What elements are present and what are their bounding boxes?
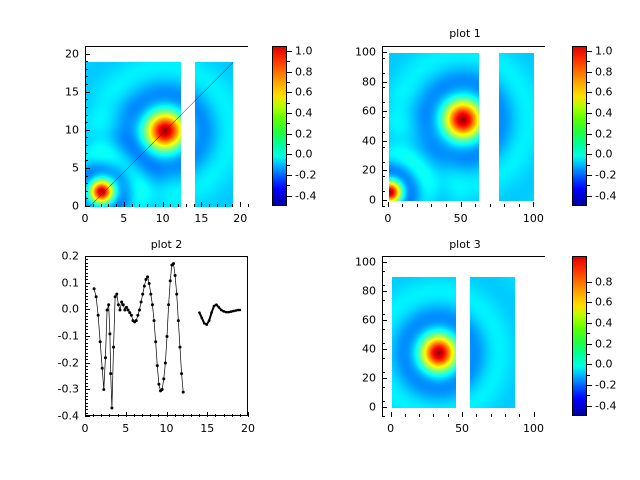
x-tick-minor bbox=[446, 204, 447, 207]
y-tick-label: 0 bbox=[326, 401, 376, 414]
y-tick-minor bbox=[85, 153, 88, 154]
data-point-marker bbox=[110, 407, 113, 410]
colorbar-tick-minor bbox=[587, 82, 590, 83]
data-point-marker bbox=[166, 335, 169, 338]
y-tick-minor bbox=[382, 416, 385, 417]
y-tick-minor bbox=[382, 372, 385, 373]
x-tick-minor bbox=[126, 414, 127, 417]
y-tick-minor bbox=[85, 399, 88, 400]
x-tick-minor bbox=[207, 414, 208, 417]
x-tick-minor bbox=[519, 204, 520, 207]
x-tick-minor bbox=[491, 414, 492, 417]
y-tick-major bbox=[382, 141, 387, 142]
colorbar-tick-minor bbox=[587, 292, 590, 293]
y-tick-label: 80 bbox=[326, 284, 376, 297]
data-point-marker bbox=[99, 340, 102, 343]
data-point-marker bbox=[120, 301, 123, 304]
x-tick-minor bbox=[132, 204, 133, 207]
y-tick-minor bbox=[85, 259, 88, 260]
x-tick-minor bbox=[93, 414, 94, 417]
colorbar-tick bbox=[287, 92, 292, 93]
y-tick-minor bbox=[85, 336, 88, 337]
colorbar-tick-label: -0.4 bbox=[595, 189, 616, 202]
data-point-marker bbox=[146, 275, 149, 278]
y-tick-label: 60 bbox=[326, 105, 376, 118]
colorbar-tick-label: 0.8 bbox=[295, 65, 313, 78]
x-tick-minor bbox=[232, 204, 233, 207]
y-tick-minor bbox=[382, 73, 385, 74]
y-tick-label: 80 bbox=[326, 75, 376, 88]
y-tick-minor bbox=[85, 263, 88, 264]
y-tick-minor bbox=[85, 386, 88, 387]
y-tick-major bbox=[382, 320, 387, 321]
y-tick-minor bbox=[85, 69, 88, 70]
data-point-marker bbox=[232, 310, 235, 313]
x-tick-minor bbox=[505, 414, 506, 417]
y-tick-label: 100 bbox=[326, 255, 376, 268]
y-tick-label: -0.2 bbox=[29, 356, 79, 369]
data-point-marker bbox=[218, 306, 221, 309]
y-tick-minor bbox=[85, 366, 88, 367]
y-tick-minor bbox=[85, 373, 88, 374]
colorbar-tick-minor bbox=[287, 103, 290, 104]
heatmap-image-plot-1 bbox=[383, 47, 546, 207]
data-point-marker bbox=[130, 314, 133, 317]
data-point-marker bbox=[178, 346, 181, 349]
x-tick-minor bbox=[109, 414, 110, 417]
y-tick-minor bbox=[85, 293, 88, 294]
y-tick-major bbox=[382, 291, 387, 292]
data-point-marker bbox=[140, 301, 143, 304]
y-tick-major bbox=[382, 378, 387, 379]
y-tick-minor bbox=[382, 191, 385, 192]
data-point-marker bbox=[107, 303, 110, 306]
x-tick-minor bbox=[101, 414, 102, 417]
data-point-marker bbox=[177, 319, 180, 322]
y-tick-minor bbox=[382, 58, 385, 59]
y-tick-minor bbox=[85, 383, 88, 384]
x-tick-minor bbox=[240, 414, 241, 417]
x-tick-label: 50 bbox=[455, 422, 469, 435]
data-point-marker bbox=[174, 274, 177, 277]
colorbar-tick bbox=[287, 134, 292, 135]
y-tick-minor bbox=[382, 147, 385, 148]
y-tick-minor bbox=[85, 343, 88, 344]
colorbar-top-left bbox=[272, 46, 287, 206]
colorbar-tick-minor bbox=[587, 354, 590, 355]
data-point-marker bbox=[112, 346, 115, 349]
data-point-marker bbox=[125, 306, 128, 309]
panel-title-plot-2: plot 2 bbox=[85, 238, 248, 251]
data-point-marker bbox=[114, 295, 117, 298]
y-tick-minor bbox=[382, 102, 385, 103]
y-tick-minor bbox=[382, 271, 385, 272]
data-point-marker bbox=[123, 309, 126, 312]
data-point-marker bbox=[97, 314, 100, 317]
y-tick-major bbox=[382, 262, 387, 263]
x-tick-minor bbox=[402, 204, 403, 207]
y-tick-label: 40 bbox=[326, 134, 376, 147]
x-tick-label: 0 bbox=[82, 212, 89, 225]
colorbar-tick-label: 0.0 bbox=[595, 148, 613, 161]
y-tick-minor bbox=[85, 54, 88, 55]
panel-title-plot-3: plot 3 bbox=[380, 238, 550, 251]
data-point-marker bbox=[117, 303, 120, 306]
colorbar-tick-minor bbox=[287, 165, 290, 166]
colorbar-tick bbox=[587, 385, 592, 386]
y-tick-minor bbox=[85, 309, 88, 310]
y-tick-minor bbox=[382, 285, 385, 286]
y-tick-minor bbox=[85, 323, 88, 324]
x-tick-minor bbox=[170, 204, 171, 207]
y-tick-label: 0.2 bbox=[29, 250, 79, 263]
colorbar-tick-minor bbox=[587, 165, 590, 166]
y-tick-minor bbox=[85, 84, 88, 85]
data-point-marker bbox=[109, 372, 112, 375]
colorbar-tick bbox=[587, 134, 592, 135]
x-tick-minor bbox=[124, 204, 125, 207]
colorbar-tick-minor bbox=[587, 395, 590, 396]
y-tick-minor bbox=[85, 403, 88, 404]
colorbar-tick bbox=[587, 51, 592, 52]
data-point-marker bbox=[101, 367, 104, 370]
y-tick-label: 60 bbox=[326, 314, 376, 327]
data-point-marker bbox=[127, 309, 130, 312]
y-tick-minor bbox=[85, 303, 88, 304]
colorbar-tick bbox=[287, 154, 292, 155]
x-tick-label: 20 bbox=[233, 212, 247, 225]
y-tick-minor bbox=[85, 333, 88, 334]
data-point-marker bbox=[203, 322, 206, 325]
data-point-marker bbox=[102, 388, 105, 391]
x-tick-minor bbox=[199, 414, 200, 417]
x-tick-label: 10 bbox=[156, 212, 170, 225]
y-tick-minor bbox=[85, 409, 88, 410]
data-point-marker bbox=[161, 388, 164, 391]
x-tick-minor bbox=[186, 204, 187, 207]
data-point-marker bbox=[115, 293, 118, 296]
line-plot-plot-2 bbox=[86, 257, 248, 416]
colorbar-tick-label: 0.2 bbox=[595, 337, 613, 350]
y-tick-label: 20 bbox=[326, 164, 376, 177]
colorbar-tick bbox=[587, 113, 592, 114]
y-tick-minor bbox=[382, 162, 385, 163]
y-tick-minor bbox=[85, 326, 88, 327]
y-tick-minor bbox=[85, 299, 88, 300]
x-tick-minor bbox=[475, 204, 476, 207]
colorbar-tick-label: 0.2 bbox=[595, 127, 613, 140]
data-point-marker bbox=[136, 314, 139, 317]
x-tick-minor bbox=[217, 204, 218, 207]
y-tick-minor bbox=[85, 61, 88, 62]
colorbar-tick-label: -0.2 bbox=[595, 169, 616, 182]
y-tick-label: 0 bbox=[326, 194, 376, 207]
y-tick-minor bbox=[85, 279, 88, 280]
y-tick-minor bbox=[85, 389, 88, 390]
data-point-marker bbox=[154, 340, 157, 343]
data-point-marker bbox=[210, 311, 213, 314]
data-point-marker bbox=[148, 282, 151, 285]
y-tick-minor bbox=[85, 363, 88, 364]
x-tick-minor bbox=[388, 204, 389, 207]
data-point-marker bbox=[201, 317, 204, 320]
y-tick-minor bbox=[85, 346, 88, 347]
data-point-marker bbox=[213, 305, 216, 308]
data-point-marker bbox=[205, 323, 208, 326]
x-tick-minor bbox=[419, 414, 420, 417]
x-tick-minor bbox=[155, 204, 156, 207]
colorbar-tick-label: 0.6 bbox=[595, 86, 613, 99]
x-tick-label: 0 bbox=[387, 422, 394, 435]
y-tick-label: 0.1 bbox=[29, 276, 79, 289]
colorbar-tick-label: -0.2 bbox=[595, 379, 616, 392]
y-tick-minor bbox=[85, 137, 88, 138]
x-tick-label: 100 bbox=[523, 212, 544, 225]
y-tick-minor bbox=[85, 406, 88, 407]
x-tick-minor bbox=[142, 414, 143, 417]
colorbar-tick-label: -0.4 bbox=[295, 189, 316, 202]
y-tick-label: -0.3 bbox=[29, 383, 79, 396]
colorbar-tick-minor bbox=[587, 123, 590, 124]
colorbar-tick bbox=[587, 92, 592, 93]
colorbar-tick-minor bbox=[587, 375, 590, 376]
data-point-marker bbox=[169, 279, 172, 282]
x-tick-minor bbox=[85, 414, 86, 417]
x-tick-minor bbox=[490, 204, 491, 207]
y-tick-minor bbox=[382, 256, 385, 257]
data-point-marker bbox=[93, 287, 96, 290]
y-tick-minor bbox=[85, 376, 88, 377]
y-tick-minor bbox=[85, 353, 88, 354]
data-point-marker bbox=[230, 310, 233, 313]
x-tick-minor bbox=[215, 414, 216, 417]
colorbar-tick-label: 0.6 bbox=[595, 296, 613, 309]
y-tick-major bbox=[382, 170, 387, 171]
colorbar-tick bbox=[587, 282, 592, 283]
x-tick-minor bbox=[224, 414, 225, 417]
data-point-marker bbox=[215, 303, 218, 306]
x-tick-minor bbox=[240, 204, 241, 207]
y-tick-minor bbox=[85, 168, 88, 169]
y-tick-minor bbox=[85, 99, 88, 100]
y-tick-minor bbox=[382, 132, 385, 133]
y-tick-minor bbox=[85, 289, 88, 290]
y-tick-minor bbox=[382, 329, 385, 330]
x-tick-minor bbox=[476, 414, 477, 417]
y-tick-minor bbox=[85, 316, 88, 317]
data-point-marker bbox=[198, 311, 201, 314]
y-tick-label: 15 bbox=[29, 85, 79, 98]
colorbar-tick bbox=[587, 175, 592, 176]
x-tick-label: 15 bbox=[194, 212, 208, 225]
y-tick-minor bbox=[85, 145, 88, 146]
data-point-marker bbox=[222, 310, 225, 313]
data-point-marker bbox=[208, 319, 211, 322]
y-tick-major bbox=[382, 52, 387, 53]
data-point-marker bbox=[128, 311, 131, 314]
data-point-marker bbox=[104, 356, 107, 359]
x-tick-minor bbox=[417, 204, 418, 207]
y-tick-label: 20 bbox=[326, 372, 376, 385]
x-tick-label: 10 bbox=[160, 422, 174, 435]
y-tick-minor bbox=[85, 369, 88, 370]
colorbar-tick-minor bbox=[587, 103, 590, 104]
y-tick-minor bbox=[85, 176, 88, 177]
colorbar-tick bbox=[287, 175, 292, 176]
y-tick-major bbox=[382, 82, 387, 83]
y-tick-label: -0.1 bbox=[29, 330, 79, 343]
data-point-marker bbox=[220, 309, 223, 312]
data-point-marker bbox=[153, 319, 156, 322]
x-tick-minor bbox=[134, 414, 135, 417]
y-tick-minor bbox=[85, 115, 88, 116]
colorbar-tick-minor bbox=[287, 82, 290, 83]
colorbar-tick-label: 0.4 bbox=[595, 107, 613, 120]
y-tick-major bbox=[382, 349, 387, 350]
y-tick-minor bbox=[85, 160, 88, 161]
x-tick-minor bbox=[201, 204, 202, 207]
data-point-marker bbox=[106, 309, 109, 312]
y-tick-minor bbox=[85, 283, 88, 284]
data-point-marker bbox=[156, 364, 159, 367]
data-point-marker bbox=[182, 391, 185, 394]
colorbar-tick bbox=[587, 154, 592, 155]
colorbar-tick-label: -0.2 bbox=[295, 169, 316, 182]
colorbar-tick-label: 1.0 bbox=[295, 45, 313, 58]
colorbar-tick bbox=[287, 113, 292, 114]
colorbar-tick-minor bbox=[587, 313, 590, 314]
y-tick-label: 0.0 bbox=[29, 303, 79, 316]
y-tick-minor bbox=[85, 130, 88, 131]
colorbar-tick-minor bbox=[587, 185, 590, 186]
x-tick-minor bbox=[534, 414, 535, 417]
colorbar-tick bbox=[287, 72, 292, 73]
colorbar-tick bbox=[587, 196, 592, 197]
y-tick-minor bbox=[85, 286, 88, 287]
x-tick-minor bbox=[232, 414, 233, 417]
data-point-marker bbox=[172, 262, 175, 265]
y-tick-minor bbox=[85, 349, 88, 350]
y-tick-minor bbox=[85, 313, 88, 314]
x-tick-minor bbox=[519, 414, 520, 417]
y-tick-label: -0.4 bbox=[29, 410, 79, 423]
x-tick-label: 100 bbox=[523, 422, 544, 435]
y-tick-minor bbox=[85, 359, 88, 360]
y-tick-minor bbox=[382, 314, 385, 315]
line-series-segment-1 bbox=[94, 264, 183, 408]
colorbar-tick bbox=[587, 364, 592, 365]
x-tick-minor bbox=[183, 414, 184, 417]
colorbar-tick bbox=[587, 323, 592, 324]
y-tick-minor bbox=[85, 296, 88, 297]
data-point-marker bbox=[151, 303, 154, 306]
x-tick-minor bbox=[194, 204, 195, 207]
y-tick-minor bbox=[85, 92, 88, 93]
y-tick-minor bbox=[85, 269, 88, 270]
x-tick-minor bbox=[209, 204, 210, 207]
y-tick-minor bbox=[382, 401, 385, 402]
y-tick-major bbox=[382, 111, 387, 112]
x-tick-minor bbox=[93, 204, 94, 207]
colorbar-tick bbox=[587, 302, 592, 303]
colorbar-plot-3 bbox=[572, 256, 587, 416]
y-tick-minor bbox=[85, 122, 88, 123]
y-tick-minor bbox=[85, 266, 88, 267]
x-tick-label: 0 bbox=[384, 212, 391, 225]
y-tick-label: 5 bbox=[29, 161, 79, 174]
x-tick-minor bbox=[85, 204, 86, 207]
x-tick-minor bbox=[139, 204, 140, 207]
x-tick-label: 15 bbox=[200, 422, 214, 435]
data-point-marker bbox=[149, 293, 152, 296]
x-tick-minor bbox=[248, 414, 249, 417]
data-point-marker bbox=[144, 278, 147, 281]
heatmap-image-plot-3 bbox=[383, 257, 546, 417]
data-point-marker bbox=[164, 362, 167, 365]
x-tick-minor bbox=[191, 414, 192, 417]
data-point-marker bbox=[162, 377, 165, 380]
colorbar-tick-label: 0.2 bbox=[295, 127, 313, 140]
y-tick-minor bbox=[85, 76, 88, 77]
colorbar-tick bbox=[287, 51, 292, 52]
x-tick-minor bbox=[175, 414, 176, 417]
colorbar-tick-label: -0.4 bbox=[595, 399, 616, 412]
x-tick-minor bbox=[431, 204, 432, 207]
colorbar-tick-label: 1.0 bbox=[595, 45, 613, 58]
data-point-marker bbox=[239, 309, 242, 312]
colorbar-tick bbox=[287, 196, 292, 197]
y-tick-minor bbox=[382, 176, 385, 177]
data-point-marker bbox=[135, 319, 138, 322]
y-tick-minor bbox=[85, 396, 88, 397]
colorbar-tick-minor bbox=[587, 333, 590, 334]
y-tick-label: 40 bbox=[326, 343, 376, 356]
y-tick-major bbox=[382, 407, 387, 408]
y-tick-label: 100 bbox=[326, 45, 376, 58]
x-tick-label: 5 bbox=[120, 212, 127, 225]
y-tick-minor bbox=[85, 306, 88, 307]
y-tick-minor bbox=[85, 319, 88, 320]
data-point-marker bbox=[227, 311, 230, 314]
data-point-marker bbox=[138, 309, 141, 312]
x-tick-minor bbox=[147, 204, 148, 207]
y-tick-minor bbox=[85, 107, 88, 108]
colorbar-tick-minor bbox=[287, 61, 290, 62]
data-point-marker bbox=[95, 295, 98, 298]
x-tick-minor bbox=[248, 204, 249, 207]
x-tick-minor bbox=[116, 204, 117, 207]
y-tick-minor bbox=[85, 276, 88, 277]
colorbar-tick bbox=[587, 406, 592, 407]
colorbar-tick-minor bbox=[287, 144, 290, 145]
y-tick-minor bbox=[85, 329, 88, 330]
colorbar-tick bbox=[587, 72, 592, 73]
y-tick-minor bbox=[85, 198, 88, 199]
y-tick-label: 0 bbox=[29, 200, 79, 213]
y-tick-minor bbox=[382, 87, 385, 88]
data-point-marker bbox=[235, 309, 238, 312]
y-tick-minor bbox=[382, 117, 385, 118]
data-point-marker bbox=[157, 383, 160, 386]
colorbar-tick-label: 0.0 bbox=[595, 358, 613, 371]
data-point-marker bbox=[108, 332, 111, 335]
x-tick-minor bbox=[225, 204, 226, 207]
x-tick-minor bbox=[150, 414, 151, 417]
y-tick-minor bbox=[382, 387, 385, 388]
colorbar-tick-label: 0.4 bbox=[295, 107, 313, 120]
x-tick-label: 20 bbox=[241, 422, 255, 435]
y-tick-minor bbox=[85, 256, 88, 257]
